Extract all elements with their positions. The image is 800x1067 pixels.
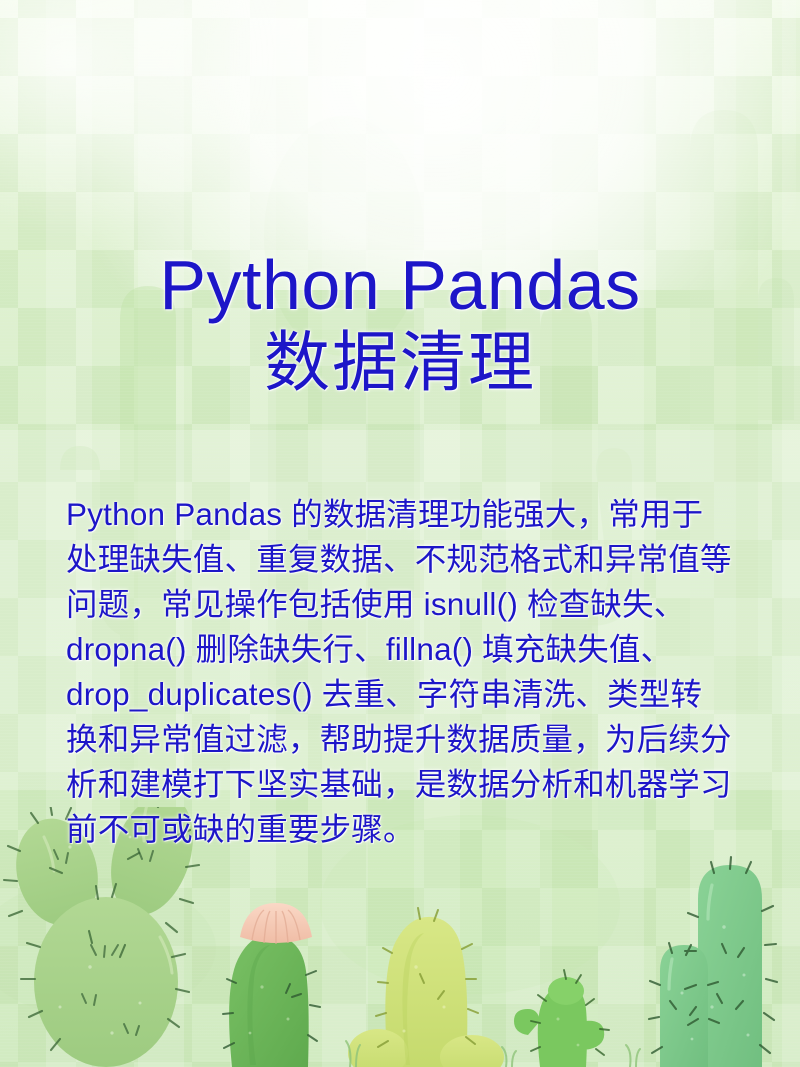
body-line: 处理缺失值、重复数据、不规范格式和异常值等 bbox=[66, 537, 726, 582]
body-line: 前不可或缺的重要步骤。 bbox=[66, 807, 726, 852]
poster-canvas: Python Pandas 数据清理 Python Pandas 的数据清理功能… bbox=[0, 0, 800, 1067]
page-title-english: Python Pandas bbox=[0, 246, 800, 324]
page-title-chinese: 数据清理 bbox=[0, 324, 800, 400]
body-line: 问题，常见操作包括使用 isnull() 检查缺失、 bbox=[66, 582, 726, 627]
body-line: 换和异常值过滤，帮助提升数据质量，为后续分 bbox=[66, 717, 726, 762]
body-line: drop_duplicates() 去重、字符串清洗、类型转 bbox=[66, 672, 726, 717]
poster-content: Python Pandas 数据清理 Python Pandas 的数据清理功能… bbox=[0, 0, 800, 1067]
body-paragraph: Python Pandas 的数据清理功能强大，常用于 处理缺失值、重复数据、不… bbox=[66, 492, 726, 852]
body-line: Python Pandas 的数据清理功能强大，常用于 bbox=[66, 492, 726, 537]
body-line: 析和建模打下坚实基础，是数据分析和机器学习 bbox=[66, 762, 726, 807]
body-line: dropna() 删除缺失行、fillna() 填充缺失值、 bbox=[66, 627, 726, 672]
title-block: Python Pandas 数据清理 bbox=[0, 246, 800, 400]
